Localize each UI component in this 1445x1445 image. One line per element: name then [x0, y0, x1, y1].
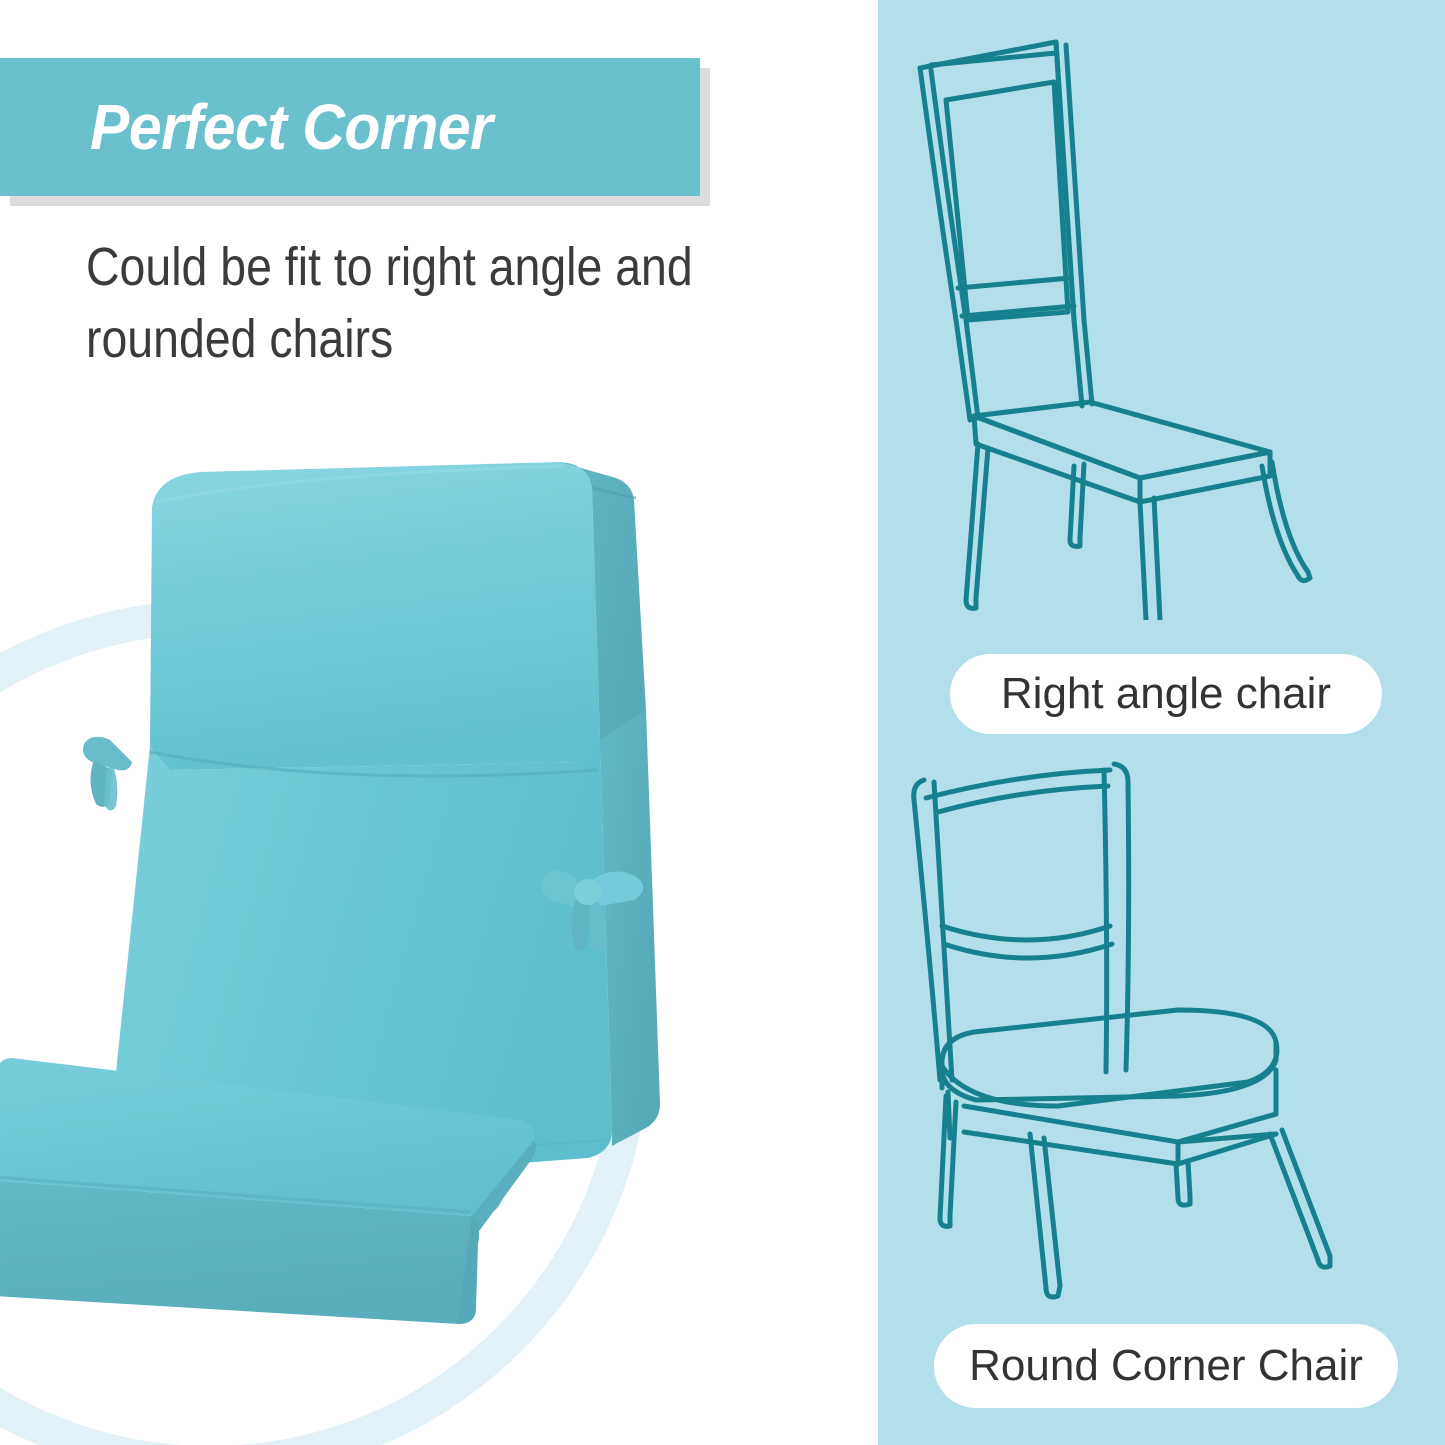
label-right-angle-chair: Right angle chair: [950, 654, 1382, 734]
round-corner-chair-illustration: [878, 740, 1445, 1320]
left-panel: Perfect Corner Could be fit to right ang…: [0, 0, 878, 1445]
label-round-corner-chair-text: Round Corner Chair: [969, 1341, 1363, 1391]
page-title: Perfect Corner: [90, 90, 493, 164]
title-banner: Perfect Corner: [0, 58, 700, 196]
cushion-tie-left: [83, 737, 132, 811]
right-panel: Right angle chair: [878, 0, 1445, 1445]
product-photo-cushion: [0, 440, 660, 1370]
label-round-corner-chair: Round Corner Chair: [934, 1324, 1398, 1408]
cushion-headrest: [150, 462, 646, 770]
cushion-illustration: [0, 440, 660, 1370]
label-right-angle-chair-text: Right angle chair: [1001, 669, 1331, 719]
infographic-page: Perfect Corner Could be fit to right ang…: [0, 0, 1445, 1445]
right-angle-chair-icon: [878, 20, 1445, 620]
subtitle-text: Could be fit to right angle and rounded …: [86, 232, 740, 376]
right-angle-chair-illustration: [878, 20, 1445, 620]
round-corner-chair-icon: [878, 740, 1445, 1320]
